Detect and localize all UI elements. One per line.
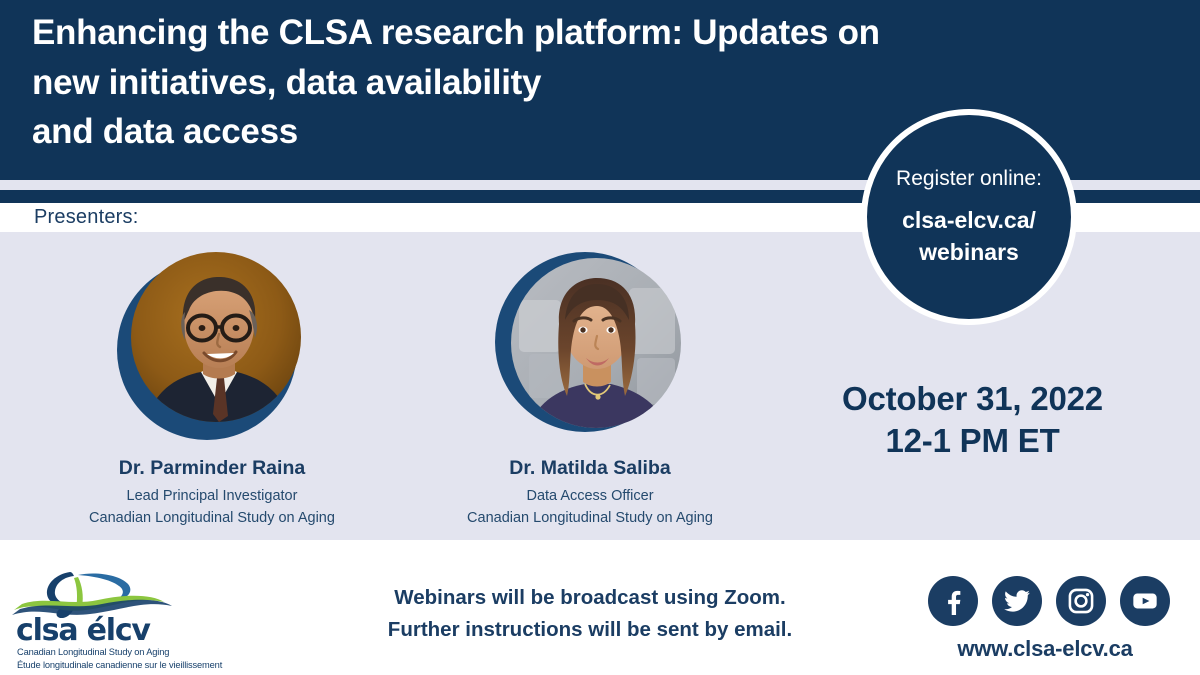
- portrait-illustration: [131, 252, 301, 422]
- social-links: [928, 576, 1170, 626]
- presenter-role: Lead Principal Investigator: [22, 486, 402, 508]
- clsa-logo[interactable]: clsa élcv Canadian Longitudinal Study on…: [12, 566, 228, 671]
- twitter-icon[interactable]: [992, 576, 1042, 626]
- event-date-block: October 31, 2022 12-1 PM ET: [800, 378, 1145, 462]
- broadcast-notice: Webinars will be broadcast using Zoom. F…: [300, 582, 880, 646]
- presenters-label: Presenters:: [34, 206, 138, 229]
- presenter-card: Dr. Parminder Raina Lead Principal Inves…: [22, 252, 402, 530]
- register-url: clsa-elcv.ca/ webinars: [902, 205, 1036, 268]
- webinar-poster: Enhancing the CLSA research platform: Up…: [0, 0, 1200, 675]
- logo-tagline-en: Canadian Longitudinal Study on Aging: [17, 646, 228, 659]
- website-url[interactable]: www.clsa-elcv.ca: [900, 636, 1190, 662]
- presenter-name: Dr. Matilda Saliba: [400, 456, 780, 480]
- presenter-name: Dr. Parminder Raina: [22, 456, 402, 480]
- instagram-glyph: [1067, 587, 1095, 615]
- presenter-org: Canadian Longitudinal Study on Aging: [400, 508, 780, 530]
- avatar: [495, 252, 685, 442]
- register-url-line-2: webinars: [902, 237, 1036, 269]
- twitter-glyph: [1003, 587, 1031, 615]
- avatar-photo-parminder-raina: [131, 252, 301, 422]
- avatar-photo-matilda-saliba: [511, 258, 681, 428]
- logo-tagline-fr: Étude longitudinale canadienne sur le vi…: [17, 659, 228, 672]
- presenter-role: Data Access Officer: [400, 486, 780, 508]
- register-online-badge[interactable]: Register online: clsa-elcv.ca/ webinars: [861, 109, 1077, 325]
- presenter-org: Canadian Longitudinal Study on Aging: [22, 508, 402, 530]
- title-line-1: Enhancing the CLSA research platform: Up…: [32, 8, 1182, 58]
- event-date: October 31, 2022: [800, 378, 1145, 420]
- event-time: 12-1 PM ET: [800, 420, 1145, 462]
- youtube-icon[interactable]: [1120, 576, 1170, 626]
- title-line-2: new initiatives, data availability: [32, 58, 1182, 108]
- register-url-line-1: clsa-elcv.ca/: [902, 205, 1036, 237]
- youtube-glyph: [1131, 587, 1159, 615]
- presenter-card: Dr. Matilda Saliba Data Access Officer C…: [400, 252, 780, 530]
- instagram-icon[interactable]: [1056, 576, 1106, 626]
- notice-line-1: Webinars will be broadcast using Zoom.: [300, 582, 880, 614]
- facebook-icon[interactable]: [928, 576, 978, 626]
- notice-line-2: Further instructions will be sent by ema…: [300, 614, 880, 646]
- butterfly-logo-icon: [12, 566, 228, 618]
- logo-wordmark: clsa élcv: [16, 616, 228, 646]
- facebook-glyph: [939, 587, 967, 615]
- avatar: [117, 252, 307, 442]
- portrait-illustration: [511, 258, 681, 428]
- register-label: Register online:: [896, 166, 1042, 191]
